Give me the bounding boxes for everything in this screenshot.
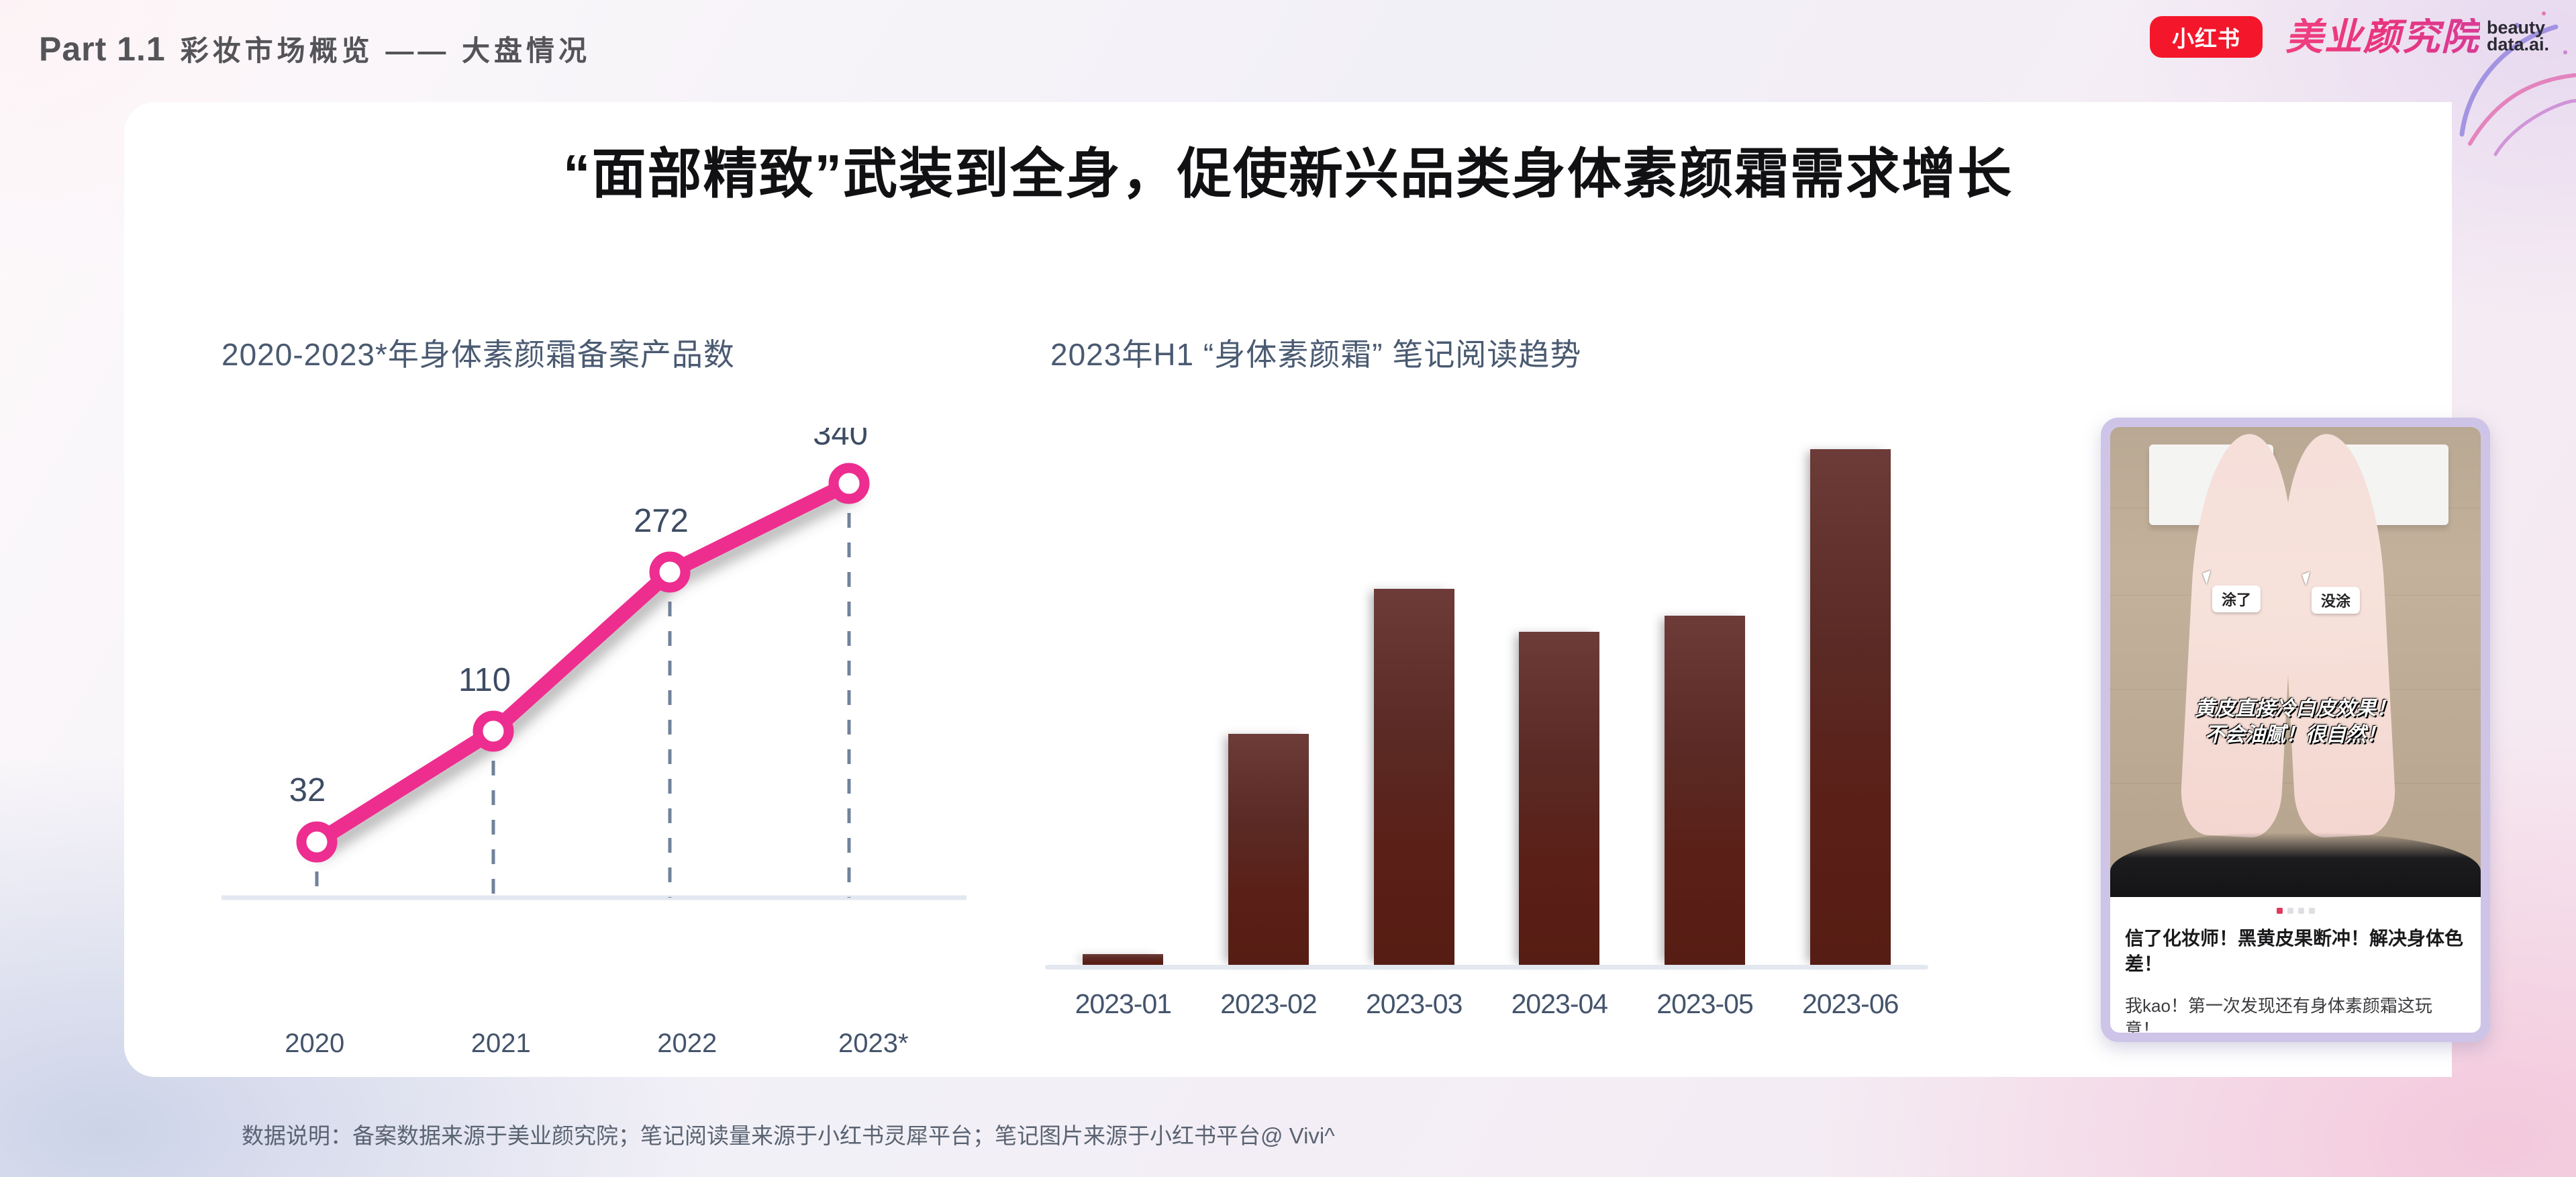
bar-chart-baseline	[1045, 965, 1928, 970]
brand-en-line2: data.ai.	[2487, 36, 2549, 53]
bar-chart-xaxis: 2023-01 2023-02 2023-03 2023-04 2023-05 …	[1050, 988, 1923, 1020]
footnote: 数据说明：备案数据来源于美业颜究院；笔记阅读量来源于小红书灵犀平台；笔记图片来源…	[242, 1118, 1335, 1150]
bar-xtick: 2023-02	[1196, 988, 1342, 1020]
brand-name-en: beauty data.ai.	[2487, 19, 2549, 56]
carousel-dots[interactable]	[2125, 908, 2466, 914]
line-xtick: 2021	[408, 1029, 595, 1059]
line-xtick: 2020	[221, 1029, 408, 1059]
bar-slot	[1632, 428, 1777, 965]
bar	[1665, 616, 1745, 965]
bar-chart: 2023年H1 “身体素颜霜” 笔记阅读趋势 2023-01 2023-02 2…	[1050, 330, 1923, 1042]
note-body: 信了化妆师！黑黄皮果断冲！解决身体色差！ 我kao！第一次发现还有身体素颜霜这玩…	[2110, 897, 2481, 1033]
logo-group: 小红书 美业颜究院 beauty data.ai.	[2150, 16, 2549, 58]
bar	[1374, 589, 1454, 965]
bar-xtick: 2023-06	[1777, 988, 1923, 1020]
bar	[1810, 449, 1891, 965]
bar-chart-title: 2023年H1 “身体素颜霜” 笔记阅读趋势	[1050, 330, 1581, 375]
line-chart-xaxis: 2020 2021 2022 2023*	[221, 1029, 967, 1059]
content-card: “面部精致”武装到全身，促使新兴品类身体素颜霜需求增长 2020-2023*年身…	[124, 102, 2452, 1077]
carousel-dot[interactable]	[2277, 908, 2283, 914]
note-spacer	[2125, 977, 2466, 994]
note-screenshot-inner: 涂了 没涂 黄皮直接冷白皮效果！ 不会油腻！很自然！ 信了化妆师！黑黄皮果断冲！…	[2110, 427, 2481, 1033]
note-photo: 涂了 没涂 黄皮直接冷白皮效果！ 不会油腻！很自然！	[2110, 427, 2481, 897]
dark-clothing	[2110, 833, 2481, 897]
bar	[1519, 632, 1599, 965]
line-value-label: 32	[289, 772, 326, 808]
line-value-label: 110	[458, 662, 511, 698]
brand-name-cn: 美业颜究院	[2285, 18, 2480, 56]
line-chart: 2020-2023*年身体素颜霜备案产品数 3	[221, 330, 967, 1042]
line-xtick: 2022	[594, 1029, 781, 1059]
bar-xtick: 2023-05	[1632, 988, 1778, 1020]
line-xtick: 2023*	[781, 1029, 967, 1059]
page-title: “面部精致”武装到全身，促使新兴品类身体素颜霜需求增长	[124, 130, 2452, 209]
photo-tag-applied: 涂了	[2212, 585, 2261, 612]
section-label: Part 1.1彩妆市场概览 —— 大盘情况	[39, 28, 591, 69]
beautydata-logo: 美业颜究院 beauty data.ai.	[2285, 18, 2549, 56]
photo-overlay-line1: 黄皮直接冷白皮效果！	[2110, 696, 2481, 722]
slide-header: Part 1.1彩妆市场概览 —— 大盘情况 小红书 美业颜究院 beauty …	[0, 0, 2576, 102]
bar	[1083, 954, 1163, 965]
xiaohongshu-logo: 小红书	[2150, 16, 2263, 58]
line-chart-title: 2020-2023*年身体素颜霜备案产品数	[221, 330, 735, 375]
section-number: Part 1.1	[39, 30, 166, 68]
note-caption: 信了化妆师！黑黄皮果断冲！解决身体色差！	[2125, 926, 2466, 977]
photo-overlay-text: 黄皮直接冷白皮效果！ 不会油腻！很自然！	[2110, 696, 2481, 748]
bar	[1228, 734, 1309, 965]
bar-xtick: 2023-04	[1487, 988, 1632, 1020]
bar-xtick: 2023-01	[1050, 988, 1196, 1020]
photo-tag-not-applied: 没涂	[2312, 587, 2360, 614]
line-chart-plot: 32 110 272 340	[221, 428, 967, 938]
note-screenshot-card: 涂了 没涂 黄皮直接冷白皮效果！ 不会油腻！很自然！ 信了化妆师！黑黄皮果断冲！…	[2101, 418, 2490, 1042]
bar-chart-plot	[1050, 428, 1923, 965]
line-value-label: 272	[634, 503, 689, 539]
bar-slot	[1778, 428, 1923, 965]
line-value-label: 340	[813, 428, 868, 452]
bar-xtick: 2023-03	[1341, 988, 1487, 1020]
bar-slot	[1196, 428, 1341, 965]
note-body-line1: 我kao！第一次发现还有身体素颜霜这玩意！	[2125, 994, 2466, 1033]
carousel-dot[interactable]	[2298, 908, 2304, 914]
bar-slot	[1487, 428, 1632, 965]
section-subtitle: 彩妆市场概览 —— 大盘情况	[181, 35, 591, 66]
carousel-dot[interactable]	[2309, 908, 2315, 914]
carousel-dot[interactable]	[2287, 908, 2293, 914]
photo-overlay-line2: 不会油腻！很自然！	[2110, 722, 2481, 748]
bar-slot	[1342, 428, 1487, 965]
bar-slot	[1050, 428, 1195, 965]
